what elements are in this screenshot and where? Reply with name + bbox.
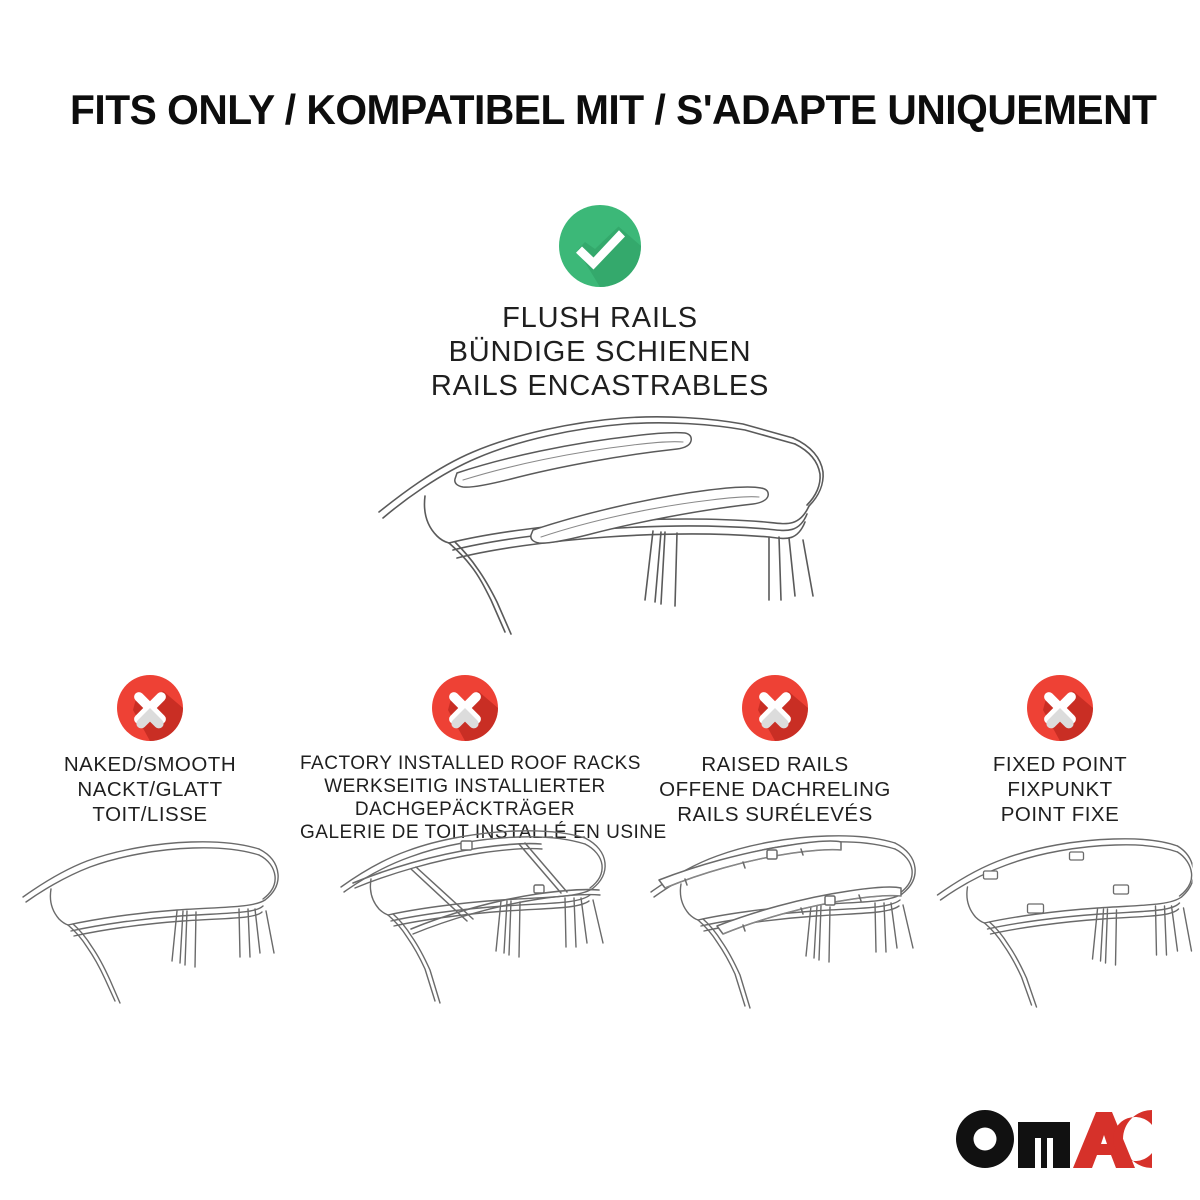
car-roof-raised-rails-illustration xyxy=(625,830,925,1010)
incompatible-item-factory-roof-racks: FACTORY INSTALLED ROOF RACKS WERKSEITIG … xyxy=(300,675,630,844)
caption-line: BÜNDIGE SCHIENEN xyxy=(0,335,1200,369)
caption-line: OFFENE DACHRELING xyxy=(630,777,920,802)
x-circle-icon xyxy=(1027,675,1093,741)
caption-line: NAKED/SMOOTH xyxy=(0,752,300,777)
caption-line: FLUSH RAILS xyxy=(0,301,1200,335)
caption-line: RAISED RAILS xyxy=(630,752,920,777)
compatible-caption: FLUSH RAILS BÜNDIGE SCHIENEN RAILS ENCAS… xyxy=(0,301,1200,403)
compatible-section: FLUSH RAILS BÜNDIGE SCHIENEN RAILS ENCAS… xyxy=(0,205,1200,403)
caption-line: NACKT/GLATT xyxy=(0,777,300,802)
item-caption: NAKED/SMOOTH NACKT/GLATT TOIT/LISSE xyxy=(0,752,300,827)
caption-line: WERKSEITIG INSTALLIERTER xyxy=(300,775,630,798)
caption-line: POINT FIXE xyxy=(920,802,1200,827)
x-circle-icon xyxy=(432,675,498,741)
car-roof-factory-racks-illustration xyxy=(315,825,615,1005)
caption-line: DACHGEPÄCKTRÄGER xyxy=(300,798,630,821)
x-circle-icon xyxy=(117,675,183,741)
caption-line: TOIT/LISSE xyxy=(0,802,300,827)
x-circle-icon xyxy=(742,675,808,741)
omac-logo xyxy=(956,1110,1152,1168)
item-caption: FIXED POINT FIXPUNKT POINT FIXE xyxy=(920,752,1200,827)
caption-line: FACTORY INSTALLED ROOF RACKS xyxy=(300,752,630,775)
caption-line: RAILS ENCASTRABLES xyxy=(0,369,1200,403)
car-roof-flush-rails-illustration xyxy=(365,400,835,660)
caption-line: FIXED POINT xyxy=(920,752,1200,777)
caption-line: RAILS SURÉLEVÉS xyxy=(630,802,920,827)
item-caption: RAISED RAILS OFFENE DACHRELING RAILS SUR… xyxy=(630,752,920,827)
car-roof-fixed-point-illustration xyxy=(928,833,1193,1008)
incompatible-section: NAKED/SMOOTH NACKT/GLATT TOIT/LISSE xyxy=(0,675,1200,844)
check-circle-icon xyxy=(559,205,641,287)
page-title: FITS ONLY / KOMPATIBEL MIT / S'ADAPTE UN… xyxy=(70,86,1098,134)
incompatible-item-naked-smooth: NAKED/SMOOTH NACKT/GLATT TOIT/LISSE xyxy=(0,675,300,827)
caption-line: FIXPUNKT xyxy=(920,777,1200,802)
incompatible-item-fixed-point: FIXED POINT FIXPUNKT POINT FIXE xyxy=(920,675,1200,827)
car-roof-naked-illustration xyxy=(15,835,285,1005)
incompatible-item-raised-rails: RAISED RAILS OFFENE DACHRELING RAILS SUR… xyxy=(630,675,920,827)
